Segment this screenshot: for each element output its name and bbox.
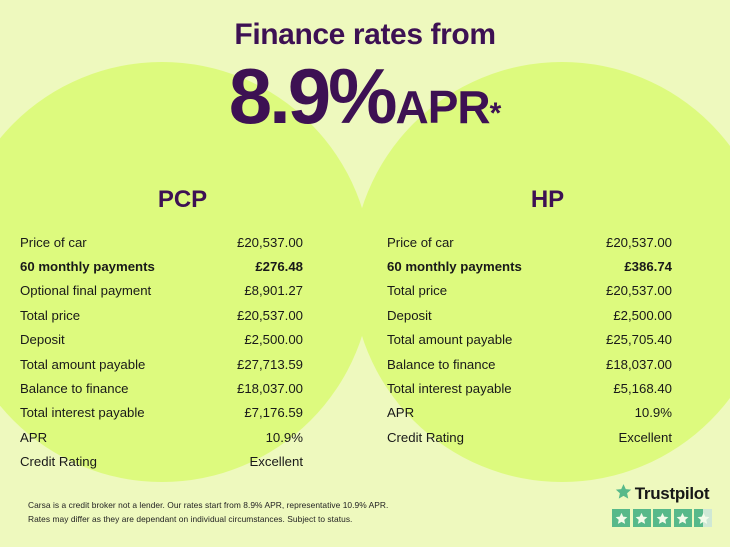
- table-row: Price of car£20,537.00: [20, 230, 303, 254]
- row-value: £5,168.40: [613, 382, 672, 395]
- row-value: £7,176.59: [244, 406, 303, 419]
- row-label: APR: [387, 406, 414, 419]
- table-row: Optional final payment£8,901.27: [20, 279, 303, 303]
- row-value: £25,705.40: [606, 333, 672, 346]
- table-row: Credit RatingExcellent: [20, 450, 303, 474]
- star-box-5-half: [694, 509, 712, 527]
- row-value: £20,537.00: [237, 236, 303, 249]
- row-value: £18,037.00: [237, 382, 303, 395]
- row-value: Excellent: [618, 431, 672, 444]
- row-label: Price of car: [387, 236, 454, 249]
- table-row: APR10.9%: [387, 401, 672, 425]
- row-value: £2,500.00: [244, 333, 303, 346]
- disclaimer-line-1: Carsa is a credit broker not a lender. O…: [28, 499, 388, 513]
- table-row: Deposit£2,500.00: [20, 328, 303, 352]
- table-row: Deposit£2,500.00: [387, 303, 672, 327]
- row-value: 10.9%: [266, 431, 303, 444]
- row-label: Price of car: [20, 236, 87, 249]
- row-label: Deposit: [387, 309, 432, 322]
- row-label: Optional final payment: [20, 284, 151, 297]
- row-value: £8,901.27: [244, 284, 303, 297]
- row-value: £18,037.00: [606, 358, 672, 371]
- row-label: Total amount payable: [20, 358, 145, 371]
- row-label: APR: [20, 431, 47, 444]
- row-label: Total price: [20, 309, 80, 322]
- finance-comparison: PCP Price of car£20,537.00 60 monthly pa…: [0, 186, 730, 474]
- row-label: Total interest payable: [387, 382, 512, 395]
- table-row: Total amount payable£27,713.59: [20, 352, 303, 376]
- table-row: Total amount payable£25,705.40: [387, 328, 672, 352]
- disclaimer: Carsa is a credit broker not a lender. O…: [28, 499, 388, 527]
- row-value: £276.48: [255, 260, 303, 273]
- finance-panel-hp: HP Price of car£20,537.00 60 monthly pay…: [365, 186, 730, 474]
- trustpilot-stars: [612, 509, 712, 527]
- trustpilot-logo: Trustpilot: [615, 483, 709, 505]
- rate-value: 8.9%: [229, 57, 395, 135]
- trustpilot-star-icon: [615, 483, 632, 505]
- row-label: Credit Rating: [387, 431, 464, 444]
- star-box-3: [653, 509, 671, 527]
- star-box-1: [612, 509, 630, 527]
- disclaimer-line-2: Rates may differ as they are dependant o…: [28, 513, 388, 527]
- finance-rows-pcp: Price of car£20,537.00 60 monthly paymen…: [0, 230, 365, 474]
- panel-title-hp: HP: [365, 186, 730, 214]
- star-box-2: [633, 509, 651, 527]
- row-value: £20,537.00: [606, 236, 672, 249]
- table-row: Total price£20,537.00: [20, 303, 303, 327]
- table-row: Price of car£20,537.00: [387, 230, 672, 254]
- panel-title-pcp: PCP: [0, 186, 365, 214]
- row-label: Deposit: [20, 333, 65, 346]
- finance-rows-hp: Price of car£20,537.00 60 monthly paymen…: [365, 230, 730, 450]
- finance-panel-pcp: PCP Price of car£20,537.00 60 monthly pa…: [0, 186, 365, 474]
- rate-asterisk: *: [490, 99, 502, 129]
- page-title: Finance rates from: [0, 18, 730, 51]
- row-label: Total amount payable: [387, 333, 512, 346]
- row-label: 60 monthly payments: [20, 260, 155, 273]
- trustpilot-wordmark: Trustpilot: [635, 484, 709, 504]
- table-row: Credit RatingExcellent: [387, 425, 672, 449]
- row-value: £27,713.59: [237, 358, 303, 371]
- trustpilot-rating[interactable]: Trustpilot: [612, 483, 712, 527]
- table-row: Total price£20,537.00: [387, 279, 672, 303]
- table-row: Total interest payable£5,168.40: [387, 376, 672, 400]
- row-value: £2,500.00: [613, 309, 672, 322]
- row-label: Balance to finance: [20, 382, 129, 395]
- table-row: 60 monthly payments£386.74: [387, 254, 672, 278]
- headline-rate: 8.9% APR *: [0, 57, 730, 135]
- promo-banner: Finance rates from 8.9% APR * PCP Price …: [0, 0, 730, 547]
- row-value: 10.9%: [635, 406, 672, 419]
- row-label: Credit Rating: [20, 455, 97, 468]
- header: Finance rates from 8.9% APR *: [0, 18, 730, 135]
- row-value: Excellent: [249, 455, 303, 468]
- table-row: 60 monthly payments£276.48: [20, 254, 303, 278]
- table-row: Balance to finance£18,037.00: [20, 376, 303, 400]
- row-value: £20,537.00: [606, 284, 672, 297]
- row-label: Total price: [387, 284, 447, 297]
- table-row: Total interest payable£7,176.59: [20, 401, 303, 425]
- row-label: 60 monthly payments: [387, 260, 522, 273]
- table-row: APR10.9%: [20, 425, 303, 449]
- row-value: £20,537.00: [237, 309, 303, 322]
- table-row: Balance to finance£18,037.00: [387, 352, 672, 376]
- star-box-4: [674, 509, 692, 527]
- row-label: Balance to finance: [387, 358, 496, 371]
- row-value: £386.74: [624, 260, 672, 273]
- row-label: Total interest payable: [20, 406, 145, 419]
- rate-unit: APR: [395, 84, 489, 130]
